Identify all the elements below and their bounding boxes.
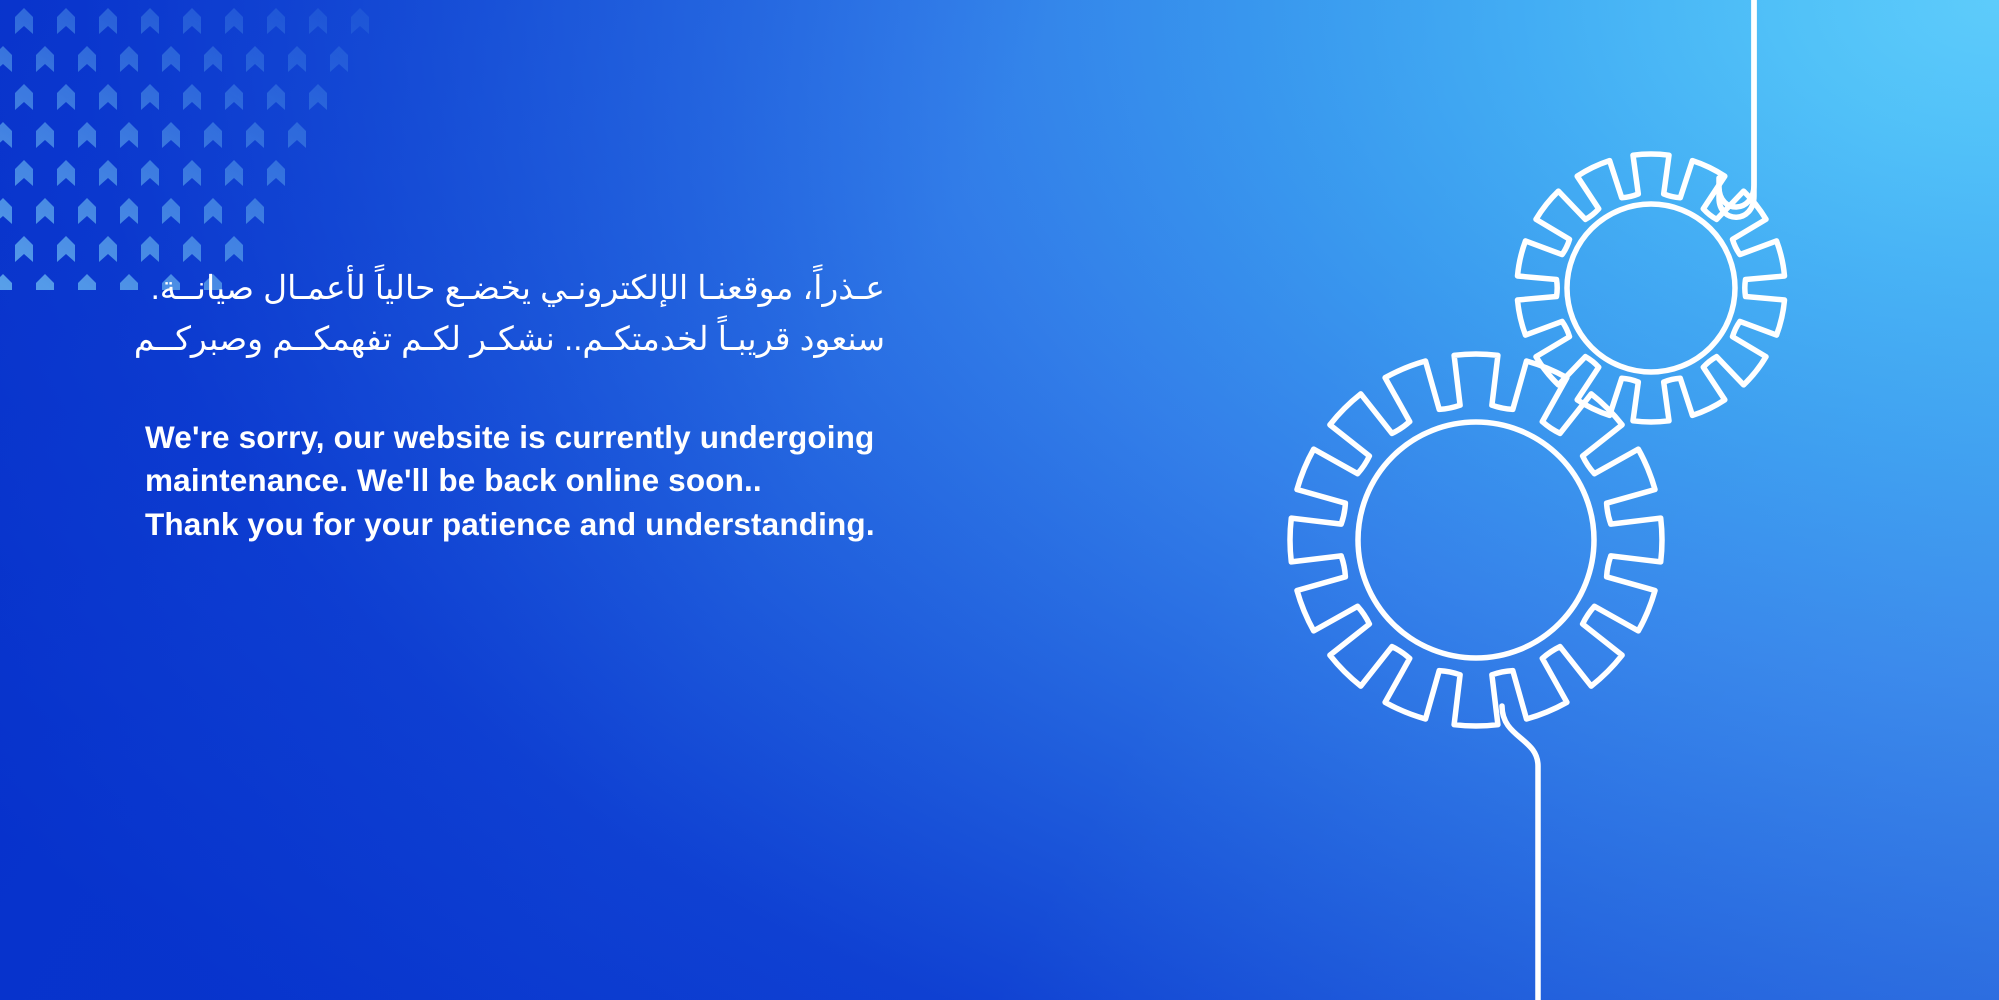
english-message: We're sorry, our website is currently un…: [145, 416, 1085, 545]
small-gear: [1518, 154, 1785, 422]
large-gear-hub: [1358, 422, 1594, 658]
bottom-connector-line: [1502, 706, 1538, 1000]
large-gear: [1290, 354, 1662, 726]
top-connector-line: [1719, 0, 1754, 217]
maintenance-page: عـذراً، موقعنـا الإلكترونـي يخضـع حالياً…: [0, 0, 1999, 1000]
arabic-message-line-2: سنعود قريبـاً لخدمتكـم.. نشكـر لكـم تفهم…: [145, 313, 885, 364]
small-gear-hub: [1567, 204, 1735, 372]
english-message-line-2: maintenance. We'll be back online soon..: [145, 459, 1085, 502]
arabic-message-line-1: عـذراً، موقعنـا الإلكترونـي يخضـع حالياً…: [145, 262, 885, 313]
english-message-line-1: We're sorry, our website is currently un…: [145, 416, 1085, 459]
gear-illustration: [1099, 0, 1999, 1000]
message-block: عـذراً، موقعنـا الإلكترونـي يخضـع حالياً…: [145, 262, 1085, 546]
arabic-message: عـذراً، موقعنـا الإلكترونـي يخضـع حالياً…: [145, 262, 885, 364]
chevron-pattern-decoration: [0, 0, 490, 290]
english-message-line-3: Thank you for your patience and understa…: [145, 503, 1085, 546]
